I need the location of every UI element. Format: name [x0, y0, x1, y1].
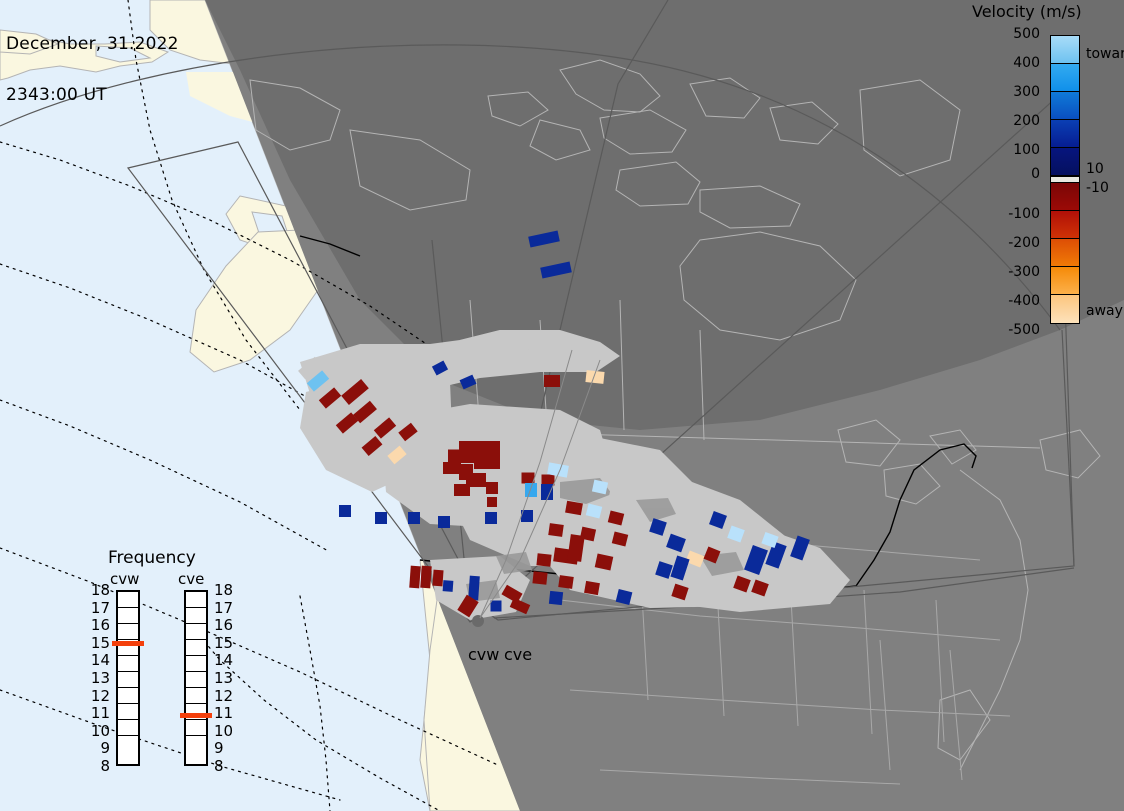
frequency-bar-segment	[118, 720, 138, 736]
frequency-bar-segment	[118, 736, 138, 752]
frequency-tick-cve-11: 11	[214, 704, 240, 722]
frequency-bar-segment	[186, 640, 206, 656]
velocity-cell	[491, 601, 502, 612]
colorbar-swatch-7	[1051, 239, 1079, 267]
colorbar-tick-neg500: -500	[992, 322, 1040, 338]
frequency-bar-segment	[186, 624, 206, 640]
velocity-colorbar	[1050, 35, 1080, 324]
colorbar-tick-300: 300	[992, 84, 1040, 100]
velocity-cell	[443, 462, 461, 474]
frequency-bar-segment	[186, 656, 206, 672]
colorbar-tick-neg300: -300	[992, 264, 1040, 280]
timestamp-time: 2343:00 UT	[6, 87, 179, 104]
velocity-cell	[474, 441, 500, 469]
velocity-cell	[438, 516, 450, 528]
frequency-tick-cvw-12: 12	[84, 687, 110, 705]
frequency-tick-cvw-13: 13	[84, 669, 110, 687]
frequency-column-header-cve: cve	[178, 570, 204, 588]
velocity-cell	[542, 475, 555, 486]
colorbar-tick-100: 100	[992, 142, 1040, 158]
colorbar-swatch-8	[1051, 267, 1079, 295]
velocity-cell	[408, 512, 420, 524]
frequency-tick-cvw-8: 8	[84, 757, 110, 775]
frequency-tick-cve-17: 17	[214, 599, 240, 617]
frequency-tick-cve-9: 9	[214, 739, 240, 757]
frequency-tick-cve-18: 18	[214, 581, 240, 599]
frequency-tick-cve-14: 14	[214, 651, 240, 669]
radar-site-marker	[472, 615, 484, 627]
frequency-legend-title: Frequency	[108, 548, 196, 568]
velocity-cell	[339, 505, 351, 517]
velocity-cell	[536, 553, 551, 566]
frequency-tick-cvw-16: 16	[84, 616, 110, 634]
radar-site-label-cve: cve	[504, 645, 532, 664]
colorbar-tick-200: 200	[992, 113, 1040, 129]
velocity-cell	[548, 523, 564, 537]
frequency-bar-segment	[186, 736, 206, 752]
velocity-cell	[532, 571, 547, 584]
colorbar-zero-lower-label: -10	[1086, 180, 1109, 196]
velocity-cell	[409, 566, 421, 589]
frequency-tick-cvw-9: 9	[84, 739, 110, 757]
frequency-bar-cvw	[116, 590, 140, 766]
frequency-bar-segment	[118, 624, 138, 640]
frequency-marker-cve	[180, 713, 212, 718]
velocity-cell	[420, 566, 432, 589]
velocity-cell	[522, 473, 535, 484]
frequency-column-header-cvw: cvw	[110, 570, 139, 588]
frequency-tick-cvw-14: 14	[84, 651, 110, 669]
colorbar-tick-neg400: -400	[992, 293, 1040, 309]
velocity-cell	[443, 580, 454, 592]
colorbar-swatch-9	[1051, 295, 1079, 323]
velocity-cell	[544, 375, 560, 387]
frequency-bar-cve	[184, 590, 208, 766]
radar-site-label-cvw: cvw	[468, 645, 499, 664]
frequency-tick-cve-12: 12	[214, 687, 240, 705]
velocity-cell	[375, 512, 387, 524]
frequency-tick-cve-10: 10	[214, 722, 240, 740]
colorbar-swatch-6	[1051, 211, 1079, 239]
colorbar-zero-upper-label: 10	[1086, 161, 1104, 177]
velocity-cell	[585, 370, 604, 384]
velocity-cell	[584, 581, 600, 595]
velocity-cell	[432, 570, 443, 587]
frequency-bar-segment	[118, 608, 138, 624]
velocity-cell	[525, 483, 537, 497]
velocity-cell	[487, 497, 497, 507]
colorbar-title: Velocity (m/s)	[972, 2, 1082, 21]
colorbar-swatch-1	[1051, 64, 1079, 92]
colorbar-tick-neg100: -100	[992, 206, 1040, 222]
velocity-cell	[454, 484, 470, 496]
frequency-tick-cvw-18: 18	[84, 581, 110, 599]
timestamp-date: December, 31.2022	[6, 36, 179, 53]
colorbar-swatch-3	[1051, 120, 1079, 148]
frequency-tick-cvw-17: 17	[84, 599, 110, 617]
velocity-cell	[558, 575, 574, 589]
colorbar-swatch-0	[1051, 36, 1079, 64]
colorbar-tick-500: 500	[992, 26, 1040, 42]
frequency-bar-segment	[186, 672, 206, 688]
frequency-tick-cve-8: 8	[214, 757, 240, 775]
frequency-tick-cve-13: 13	[214, 669, 240, 687]
frequency-bar-segment	[118, 704, 138, 720]
frequency-marker-cvw	[112, 641, 144, 646]
frequency-tick-cvw-11: 11	[84, 704, 110, 722]
velocity-cell	[486, 482, 498, 494]
velocity-cell	[541, 484, 553, 500]
colorbar-tick-neg200: -200	[992, 235, 1040, 251]
frequency-tick-cvw-10: 10	[84, 722, 110, 740]
velocity-cell	[485, 512, 497, 524]
timestamp-block: December, 31.2022 2343:00 UT	[6, 2, 179, 138]
frequency-bar-segment	[118, 688, 138, 704]
frequency-bar-segment	[118, 656, 138, 672]
velocity-cell	[556, 351, 577, 362]
frequency-bar-segment	[186, 608, 206, 624]
colorbar-swatch-4	[1051, 148, 1079, 176]
radar-map-plot: December, 31.2022 2343:00 UT Velocity (m…	[0, 0, 1124, 811]
frequency-tick-cvw-15: 15	[84, 634, 110, 652]
colorbar-toward-label: toward	[1086, 46, 1124, 62]
frequency-bar-segment	[186, 688, 206, 704]
colorbar-swatch-2	[1051, 92, 1079, 120]
frequency-bar-segment	[186, 592, 206, 608]
frequency-bar-segment	[118, 672, 138, 688]
frequency-tick-cve-15: 15	[214, 634, 240, 652]
colorbar-tick-0: 0	[992, 166, 1040, 182]
colorbar-zero-band	[1051, 176, 1079, 183]
frequency-bar-segment	[186, 720, 206, 736]
frequency-bar-segment	[118, 592, 138, 608]
velocity-cell	[544, 335, 567, 348]
frequency-tick-cve-16: 16	[214, 616, 240, 634]
colorbar-swatch-5	[1051, 183, 1079, 211]
velocity-cell	[549, 591, 563, 605]
colorbar-away-label: away	[1086, 303, 1123, 319]
colorbar-tick-400: 400	[992, 55, 1040, 71]
